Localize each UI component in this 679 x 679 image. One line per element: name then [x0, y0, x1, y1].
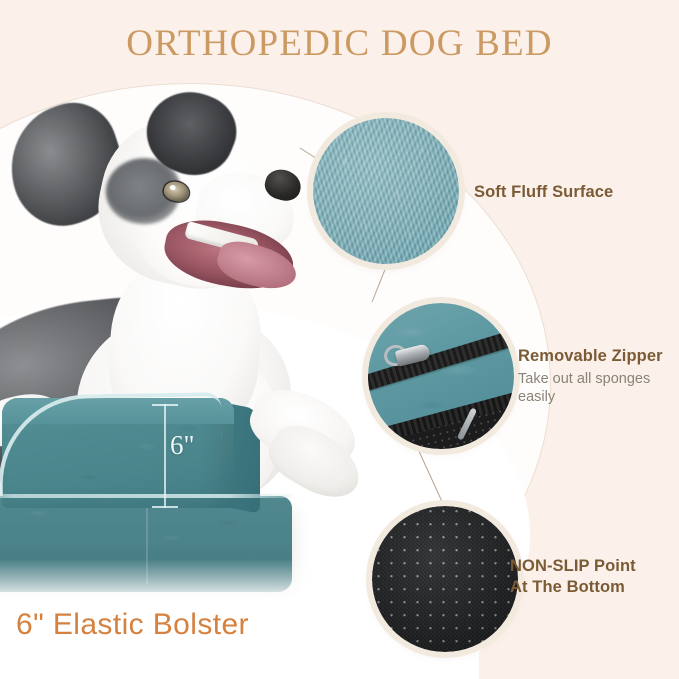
- callout-soft-fluff-title: Soft Fluff Surface: [474, 182, 613, 203]
- detail-circle-removable-zipper: [368, 303, 514, 449]
- callout-non-slip: NON-SLIP Point At The Bottom: [510, 556, 636, 597]
- callout-removable-zipper: Removable Zipper Take out all sponges ea…: [518, 346, 678, 407]
- callout-soft-fluff: Soft Fluff Surface: [474, 182, 613, 203]
- callout-non-slip-title-line1: NON-SLIP Point: [510, 556, 636, 577]
- zipper-track-upper: [368, 319, 514, 396]
- zipper-mesh-panel: [399, 390, 514, 449]
- zipper-track-lower: [368, 379, 514, 449]
- zipper-fabric: [368, 303, 514, 449]
- callout-removable-zipper-subtitle: Take out all sponges easily: [518, 370, 678, 408]
- callout-non-slip-title-line2: At The Bottom: [510, 577, 636, 598]
- product-infographic: ORTHOPEDIC DOG BED: [0, 0, 679, 679]
- dog-front-paws: [0, 96, 382, 496]
- dimension-cap-bottom: [152, 506, 178, 508]
- zipper-tab-icon: [457, 407, 477, 440]
- zipper-pull-ring-icon: [382, 343, 409, 369]
- zipper-pull-icon: [395, 343, 432, 367]
- detail-circle-non-slip: [372, 506, 518, 652]
- callout-removable-zipper-title: Removable Zipper: [518, 346, 678, 367]
- non-slip-dot-texture: [372, 506, 518, 652]
- page-title: ORTHOPEDIC DOG BED: [0, 22, 679, 65]
- non-slip-vignette: [372, 506, 518, 652]
- bottom-caption-elastic-bolster: 6" Elastic Bolster: [16, 608, 249, 642]
